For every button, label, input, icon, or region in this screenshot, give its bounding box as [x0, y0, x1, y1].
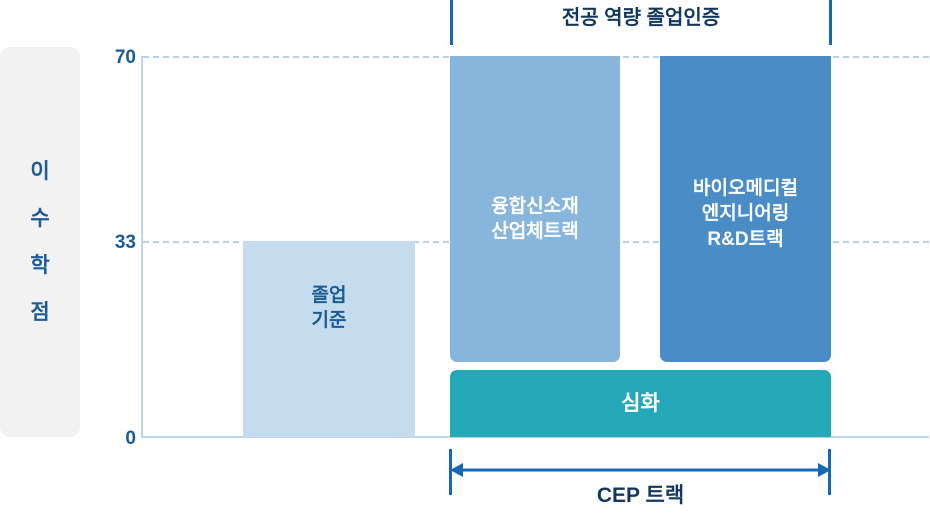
band-label-advanced: 심화 [621, 390, 660, 418]
bottom-bracket-label: CEP 트랙 [450, 485, 831, 506]
y-axis-tick-0: 0 [76, 429, 136, 448]
y-axis-tick-70: 70 [76, 48, 136, 67]
bar-label-graduation-standard: 졸업 기준 [312, 283, 347, 333]
y-axis-line [141, 56, 143, 438]
bar-convergence-materials-industry-track: 융합신소재 산업체트랙 [450, 56, 620, 362]
bar-label-biomedical-engineering-rnd-track: 바이오메디컬 엔지니어링 R&D트랙 [693, 176, 798, 251]
top-bracket-label: 전공 역량 졸업인증 [453, 8, 829, 28]
y-axis-tick-33: 33 [76, 233, 136, 252]
chart-plot-area: 70 33 0 졸업 기준 융합신소재 산업체트랙 바이오메디컬 엔지니어링 R… [0, 0, 930, 515]
bar-label-convergence-materials-industry-track: 융합신소재 산업체트랙 [491, 194, 578, 244]
top-bracket-right-tick [829, 0, 832, 45]
double-headed-arrow-icon [449, 459, 832, 481]
bar-biomedical-engineering-rnd-track: 바이오메디컬 엔지니어링 R&D트랙 [660, 56, 831, 362]
band-advanced: 심화 [450, 370, 831, 437]
bar-graduation-standard: 졸업 기준 [243, 241, 415, 437]
